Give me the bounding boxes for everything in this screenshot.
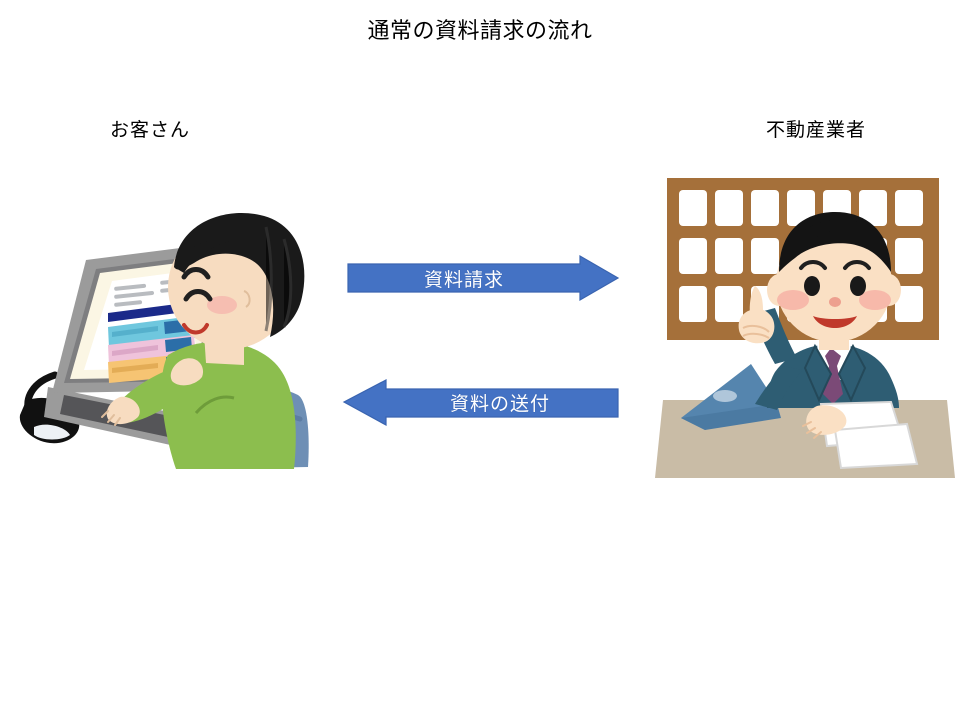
slide-canvas: 通常の資料請求の流れ お客さん 不動産業者 (0, 0, 960, 720)
label-agency: 不動産業者 (706, 119, 926, 143)
arrow-label-request: 資料請求 (348, 256, 580, 300)
arrow-label-send: 資料の送付 (382, 380, 618, 425)
page-title: 通常の資料請求の流れ (0, 18, 960, 44)
illustration-customer-using-laptop (8, 205, 318, 470)
arrow-document-request: 資料請求 (348, 256, 618, 300)
arrow-document-sending: 資料の送付 (344, 380, 618, 425)
label-customer: お客さん (40, 119, 260, 143)
illustration-real-estate-agent (655, 168, 955, 488)
